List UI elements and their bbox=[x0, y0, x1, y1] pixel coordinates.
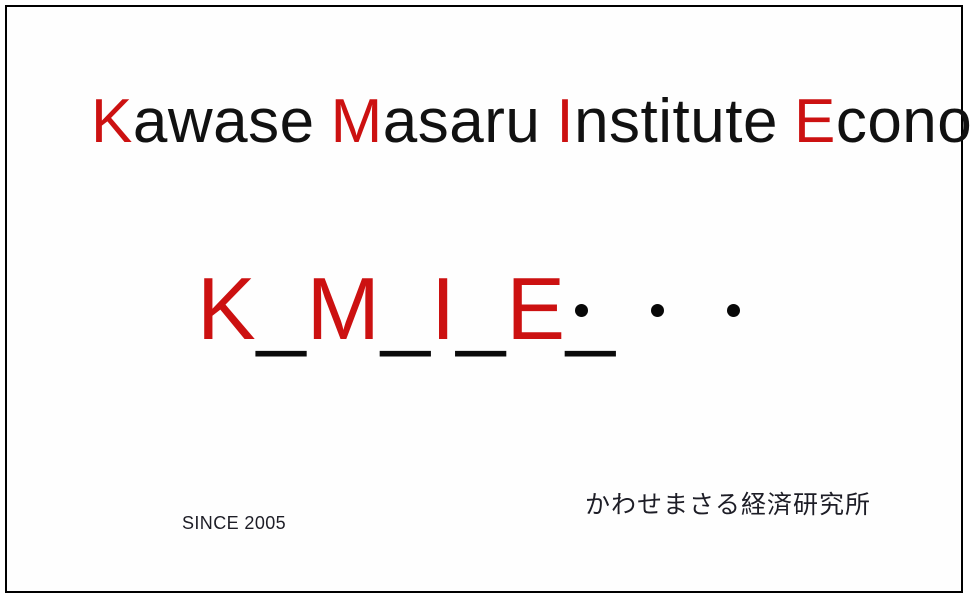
mark-letter-e: E bbox=[506, 259, 566, 358]
mark-letter-k: K bbox=[197, 259, 257, 358]
mark-letter-i: I bbox=[431, 259, 456, 358]
headline-word-institute: Institute bbox=[556, 87, 778, 156]
headline-word-economics: Economics bbox=[794, 87, 970, 156]
mark-underscore-1: _ bbox=[257, 259, 307, 358]
ellipsis-dot-2 bbox=[651, 304, 664, 317]
headline-initial-e: E bbox=[794, 87, 836, 156]
card-border-frame: KawaseMasaruInstituteEconomics K_M_I_E_ … bbox=[5, 5, 963, 593]
headline-rest-institute: nstitute bbox=[574, 87, 778, 156]
headline-word-masaru: Masaru bbox=[331, 87, 541, 156]
headline-initial-k: K bbox=[91, 87, 133, 156]
headline-initial-m: M bbox=[331, 87, 383, 156]
headline-rest-kawase: awase bbox=[133, 87, 315, 156]
card-content-area: KawaseMasaruInstituteEconomics K_M_I_E_ … bbox=[7, 7, 961, 591]
headline-rest-masaru: asaru bbox=[383, 87, 541, 156]
headline-initial-i: I bbox=[556, 87, 574, 156]
mark-underscore-3: _ bbox=[456, 259, 506, 358]
japanese-institute-name: かわせまさる経済研究所 bbox=[585, 492, 871, 517]
headline-rest-economics: conomics bbox=[836, 87, 970, 156]
mark-ellipsis-dots bbox=[575, 304, 740, 317]
kmie-acronym-mark: K_M_I_E_ bbox=[197, 265, 616, 353]
ellipsis-dot-3 bbox=[727, 304, 740, 317]
ellipsis-dot-1 bbox=[575, 304, 588, 317]
logo-card: KawaseMasaruInstituteEconomics K_M_I_E_ … bbox=[0, 0, 970, 600]
institute-headline: KawaseMasaruInstituteEconomics bbox=[91, 91, 970, 153]
mark-letter-m: M bbox=[307, 259, 381, 358]
headline-word-kawase: Kawase bbox=[91, 87, 315, 156]
mark-underscore-2: _ bbox=[381, 259, 431, 358]
since-label: SINCE 2005 bbox=[182, 514, 286, 532]
